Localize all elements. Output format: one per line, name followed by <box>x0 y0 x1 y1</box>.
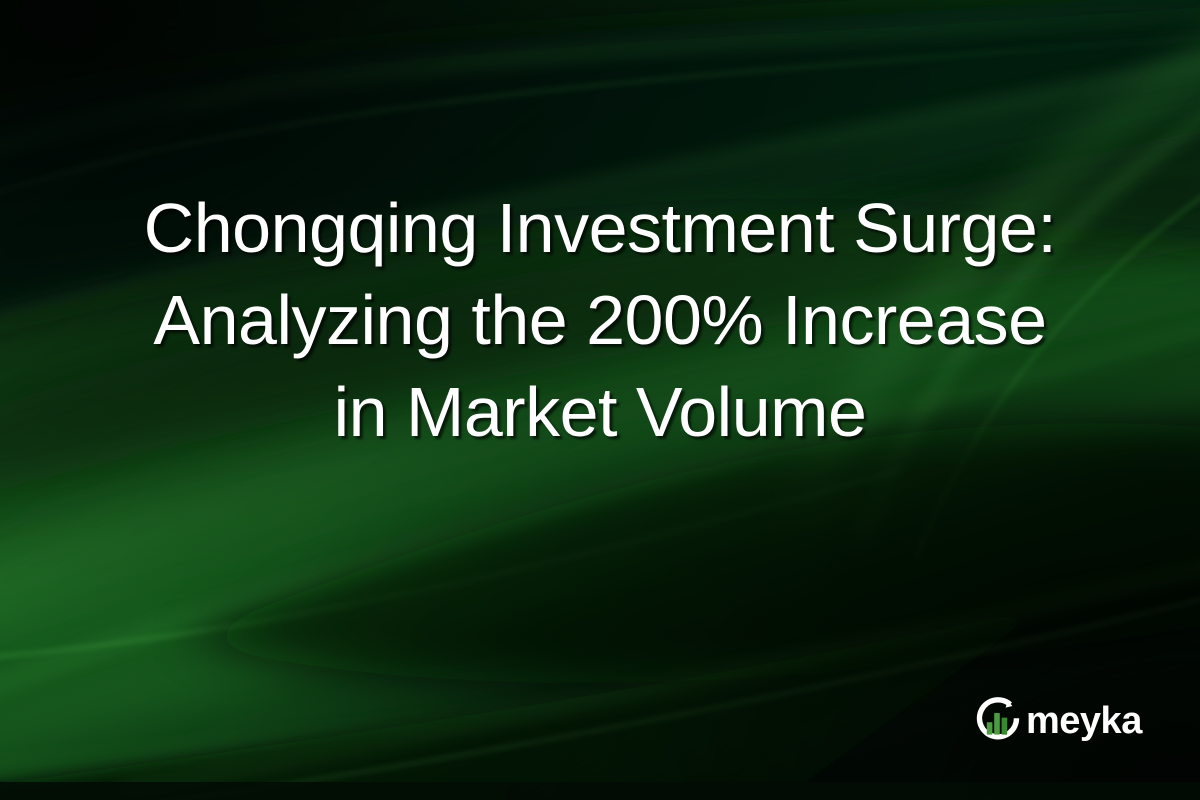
article-cover-banner: Chongqing Investment Surge: Analyzing th… <box>0 0 1200 800</box>
logo-bar-right <box>1002 718 1008 735</box>
meyka-wordmark: meyka <box>1026 702 1142 740</box>
logo-bar-left <box>987 722 993 734</box>
headline-line-1: Chongqing Investment Surge: <box>40 182 1160 274</box>
headline-line-2: Analyzing the 200% Increase <box>40 274 1160 366</box>
page-title: Chongqing Investment Surge: Analyzing th… <box>0 182 1200 458</box>
meyka-logo[interactable]: meyka <box>972 694 1142 746</box>
meyka-circular-bar-chart-icon <box>972 694 1024 746</box>
logo-bar-middle <box>994 713 1000 735</box>
headline-line-3: in Market Volume <box>40 366 1160 458</box>
